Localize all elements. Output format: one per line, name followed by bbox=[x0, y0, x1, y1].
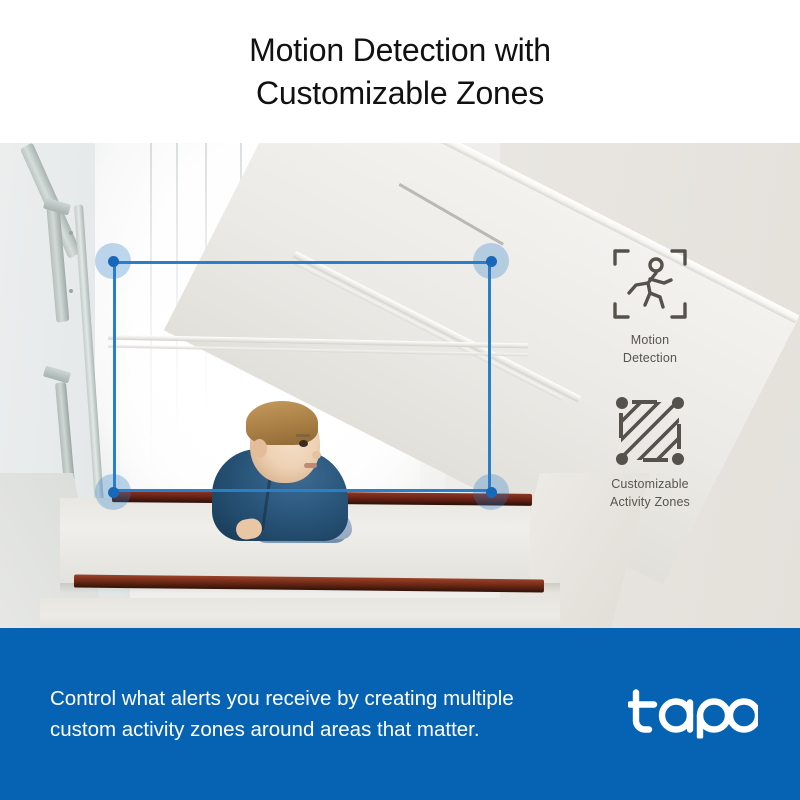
feature-list: Motion Detection bbox=[575, 243, 725, 537]
camera-scene-photo: Motion Detection bbox=[0, 143, 800, 628]
activity-zones-icon bbox=[575, 393, 725, 469]
tapo-motion-detection-promo: Motion Detection with Customizable Zones bbox=[0, 0, 800, 800]
label-line-2: Detection bbox=[623, 351, 677, 365]
tapo-logo bbox=[628, 685, 758, 744]
label-line-1: Customizable bbox=[611, 477, 689, 491]
description-banner: Control what alerts you receive by creat… bbox=[0, 628, 800, 800]
zone-handle-top-left[interactable] bbox=[95, 243, 131, 279]
page-title-line-2: Customizable Zones bbox=[256, 72, 544, 114]
handrail-screw bbox=[69, 289, 73, 293]
zone-handle-top-right[interactable] bbox=[473, 243, 509, 279]
stair-tread-lower bbox=[40, 598, 560, 628]
activity-zone-rectangle[interactable] bbox=[113, 261, 491, 492]
feature-motion-detection: Motion Detection bbox=[575, 243, 725, 367]
feature-activity-zones-label: Customizable Activity Zones bbox=[575, 476, 725, 511]
page-title-line-1: Motion Detection with bbox=[249, 29, 551, 71]
feature-activity-zones: Customizable Activity Zones bbox=[575, 393, 725, 511]
feature-motion-detection-label: Motion Detection bbox=[575, 332, 725, 367]
label-line-1: Motion bbox=[631, 333, 669, 347]
label-line-2: Activity Zones bbox=[610, 495, 690, 509]
zone-handle-bottom-left[interactable] bbox=[95, 474, 131, 510]
header-banner: Motion Detection with Customizable Zones bbox=[0, 0, 800, 143]
banner-description: Control what alerts you receive by creat… bbox=[50, 683, 550, 745]
motion-detection-icon bbox=[575, 243, 725, 325]
handrail-screw bbox=[69, 231, 73, 235]
zone-handle-bottom-right[interactable] bbox=[473, 474, 509, 510]
